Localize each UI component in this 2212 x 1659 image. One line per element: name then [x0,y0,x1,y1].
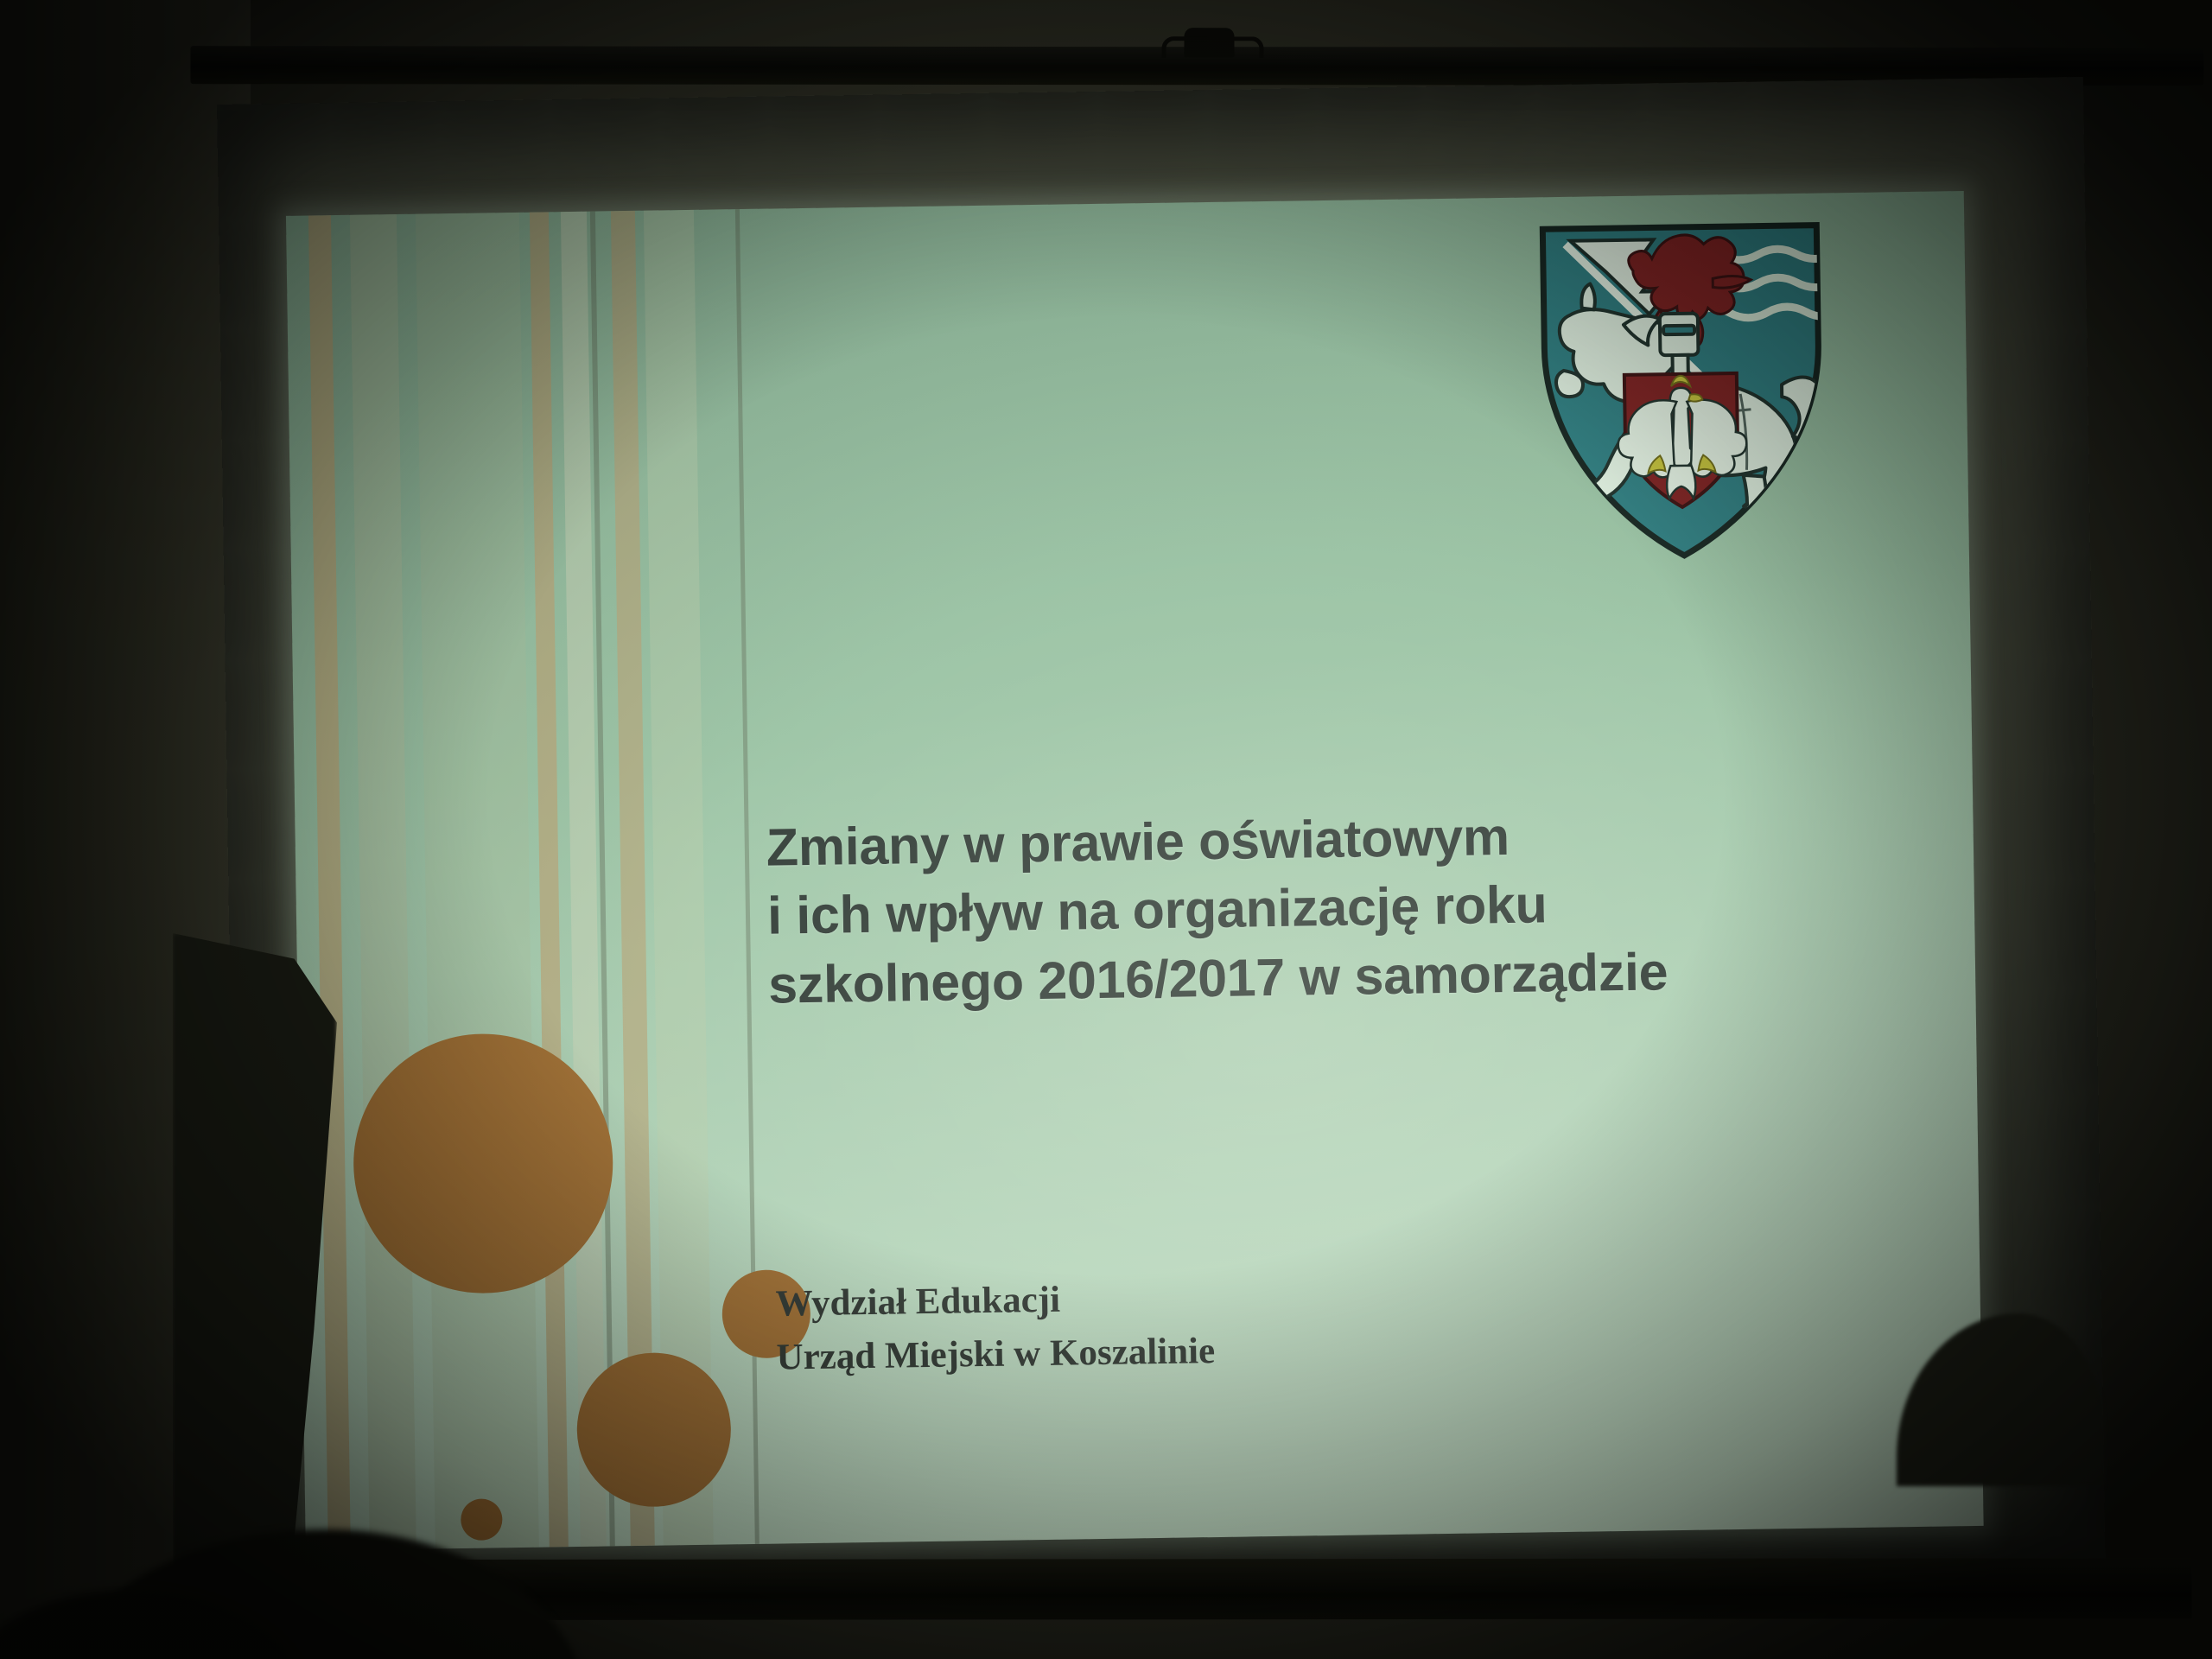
projection-screen: Zmiany w prawie oświatowym i ich wpływ n… [216,25,2105,1608]
slide-stripe-0 [308,215,351,1550]
projected-slide-photo: Zmiany w prawie oświatowym i ich wpływ n… [0,0,2212,1659]
slide-stripe-1 [350,214,416,1550]
slide-stripe-7 [644,210,714,1546]
slide-subtitle: Wydział Edukacji Urząd Miejski w Koszali… [775,1265,1641,1386]
slide-stripe-2 [416,213,539,1549]
screen-mount-bracket-icon [1184,28,1234,57]
coat-of-arms-koszalin-icon [1530,214,1834,564]
slide-title: Zmiany w prawie oświatowym i ich wpływ n… [766,797,1909,1019]
slide-stripe-decoration [286,210,712,1551]
presentation-slide: Zmiany w prawie oświatowym i ich wpływ n… [286,191,1984,1551]
screen-surface: Zmiany w prawie oświatowym i ich wpływ n… [217,77,2105,1599]
